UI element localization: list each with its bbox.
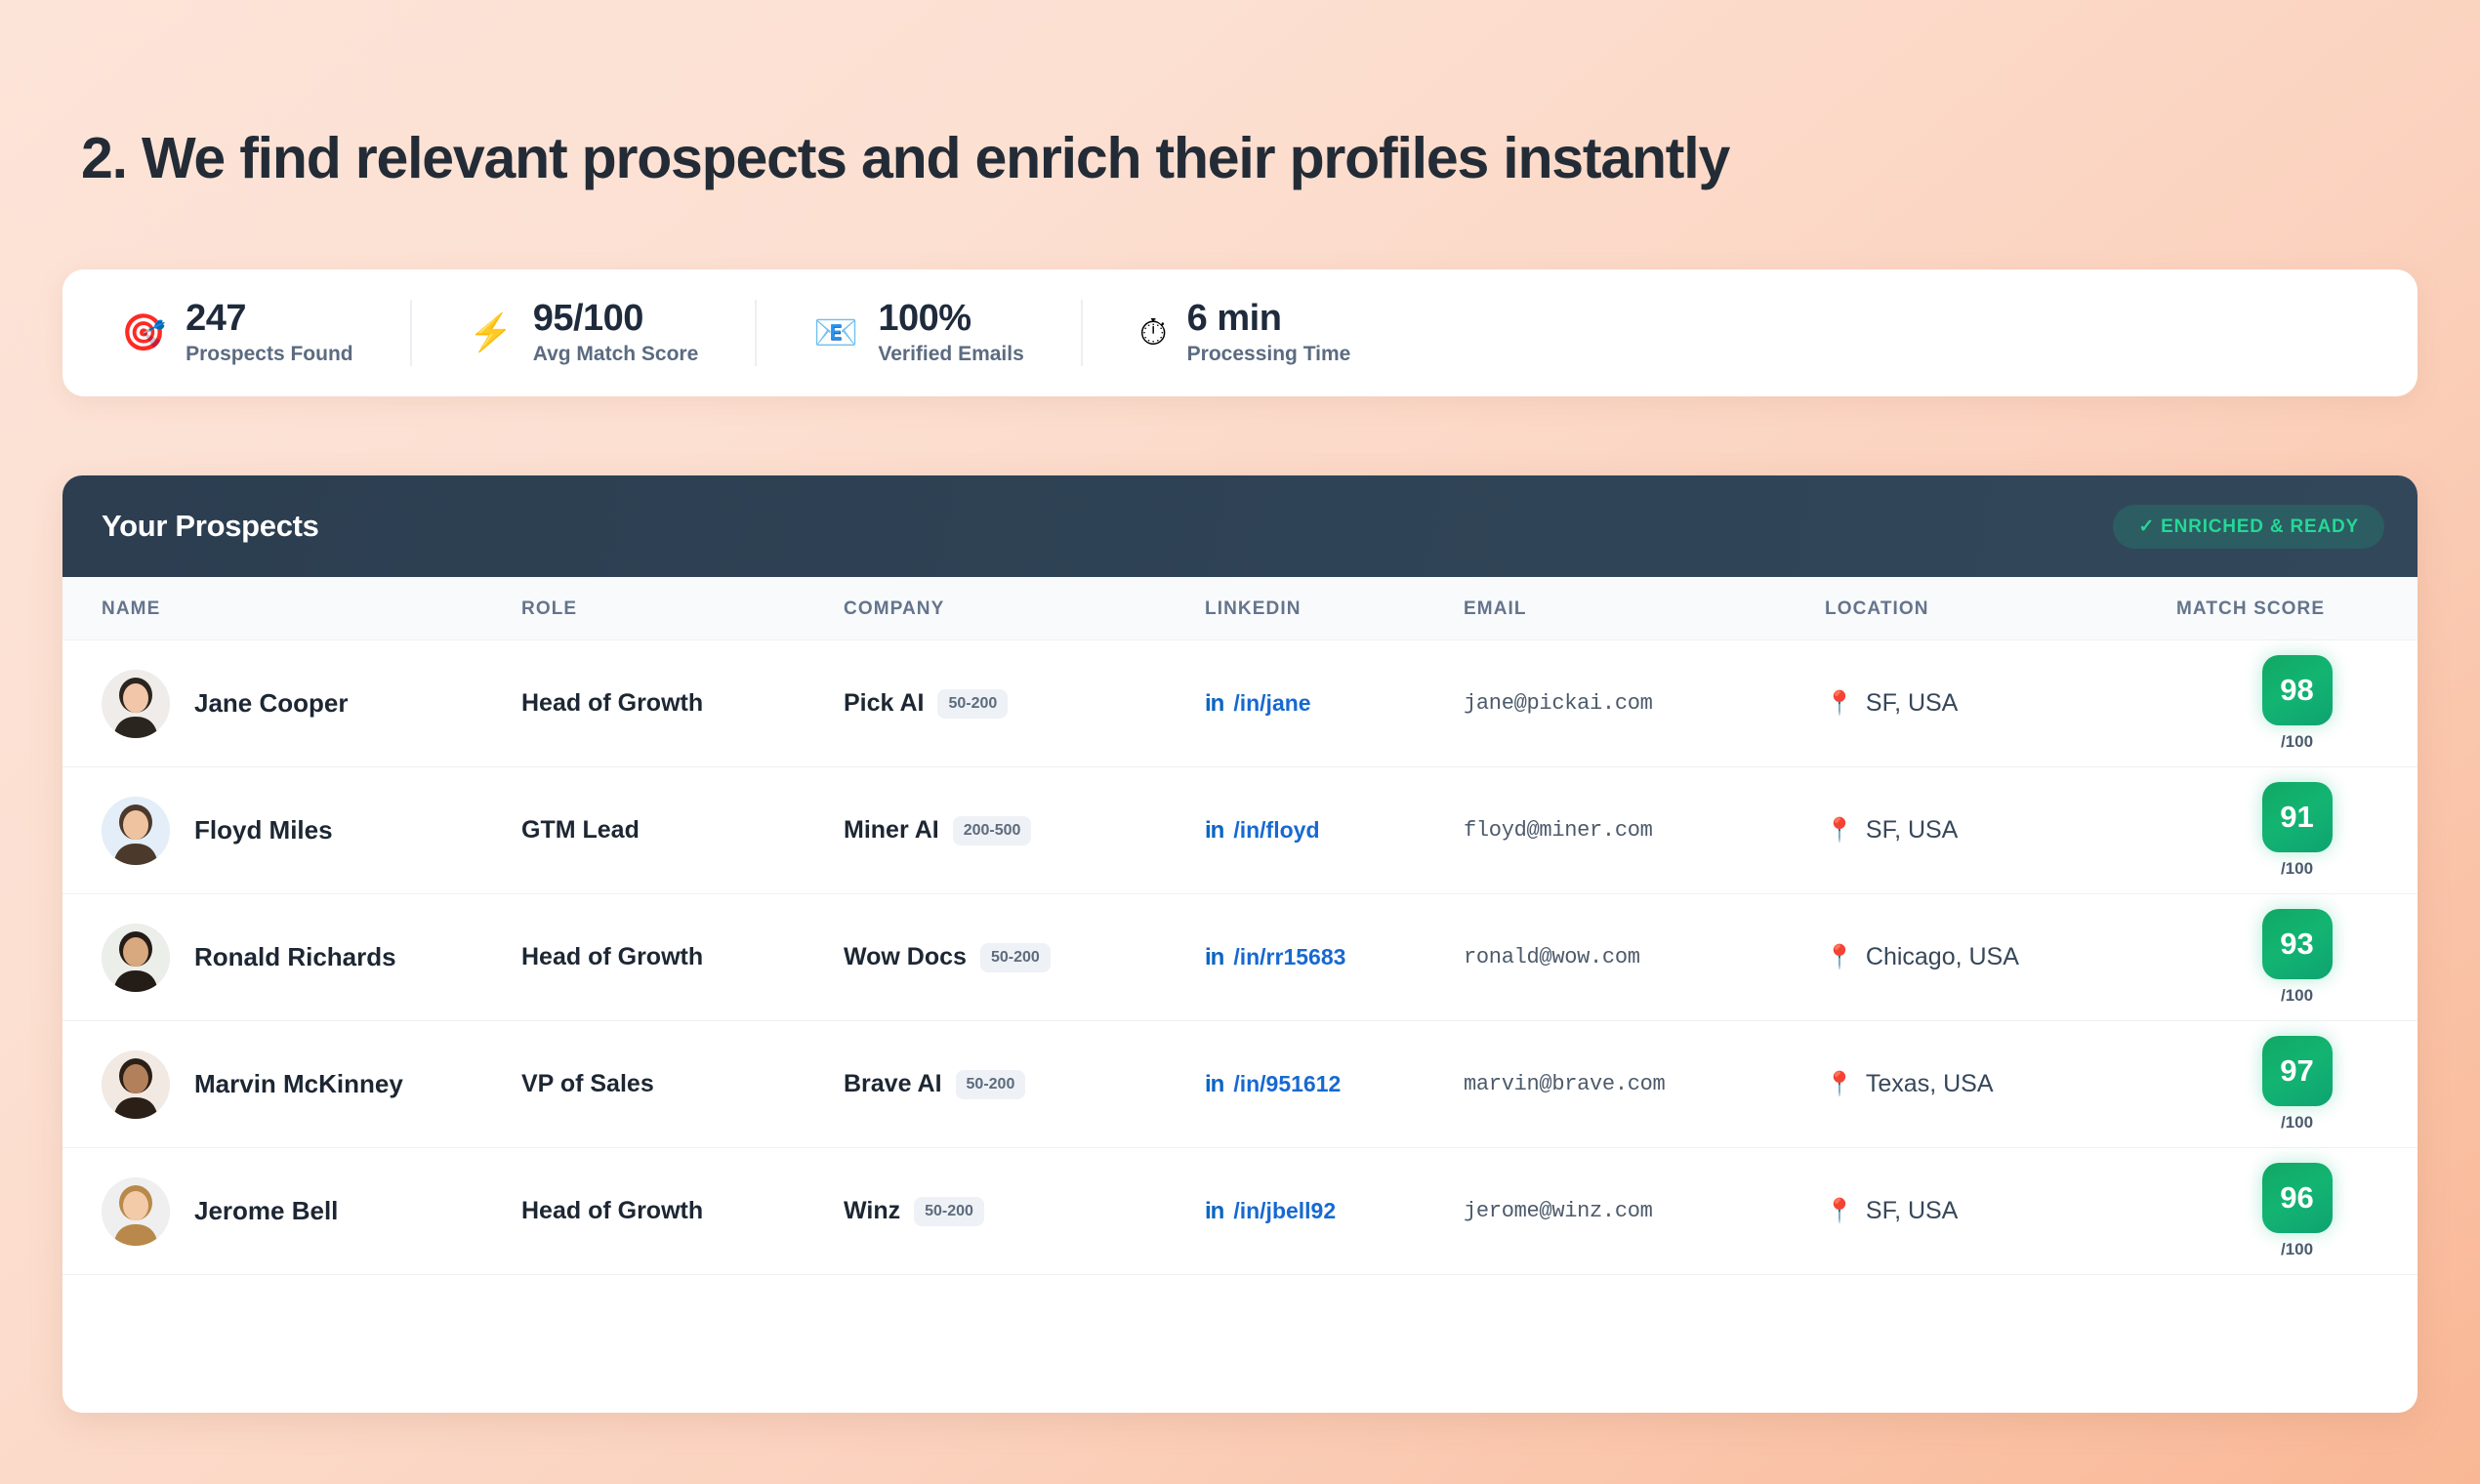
prospect-role: Head of Growth <box>521 943 703 970</box>
prospect-email[interactable]: marvin@brave.com <box>1464 1072 1665 1096</box>
linkedin-link[interactable]: in /in/jbell92 <box>1205 1198 1464 1224</box>
prospect-name: Jerome Bell <box>194 1196 338 1226</box>
stat-value: 100% <box>878 300 1023 339</box>
prospect-role: Head of Growth <box>521 1197 703 1224</box>
stat-processing-time: ⏱ 6 min Processing Time <box>1081 300 1408 367</box>
column-header-company[interactable]: COMPANY <box>844 577 1205 640</box>
avatar <box>102 1051 170 1119</box>
linkedin-icon: in <box>1205 946 1223 969</box>
linkedin-icon: in <box>1205 819 1223 843</box>
avatar <box>102 670 170 738</box>
prospect-company: Brave AI <box>844 1070 942 1098</box>
table-row[interactable]: Marvin McKinney VP of Sales Brave AI 50-… <box>62 1021 2418 1148</box>
prospect-email[interactable]: floyd@miner.com <box>1464 818 1653 843</box>
avatar <box>102 924 170 992</box>
match-score: 96 /100 <box>2176 1163 2418 1259</box>
table-row[interactable]: Floyd Miles GTM Lead Miner AI 200-500 in… <box>62 767 2418 894</box>
match-score: 93 /100 <box>2176 909 2418 1006</box>
match-score: 97 /100 <box>2176 1036 2418 1133</box>
prospects-table: NAME ROLE COMPANY LINKEDIN EMAIL LOCATIO… <box>62 577 2418 1275</box>
status-badge: ✓ ENRICHED & READY <box>2113 505 2384 549</box>
stopwatch-icon: ⏱ <box>1139 314 1168 350</box>
match-score-denominator: /100 <box>2281 732 2313 752</box>
column-header-linkedin[interactable]: LINKEDIN <box>1205 577 1464 640</box>
match-score-value: 96 <box>2262 1163 2333 1233</box>
company-size-badge: 50-200 <box>937 689 1008 719</box>
prospect-location: SF, USA <box>1866 689 1958 718</box>
match-score-value: 93 <box>2262 909 2333 979</box>
linkedin-icon: in <box>1205 1073 1223 1096</box>
prospect-company: Miner AI <box>844 816 939 845</box>
linkedin-handle: /in/951612 <box>1233 1071 1341 1097</box>
stat-value: 95/100 <box>533 300 699 339</box>
target-icon: 🎯 <box>121 314 166 350</box>
stat-prospects-found: 🎯 247 Prospects Found <box>121 300 410 367</box>
panel-title: Your Prospects <box>102 509 319 544</box>
column-header-email[interactable]: EMAIL <box>1464 577 1825 640</box>
linkedin-handle: /in/jbell92 <box>1233 1198 1336 1224</box>
stat-label: Processing Time <box>1187 343 1351 366</box>
match-score-value: 91 <box>2262 782 2333 852</box>
table-header-row: NAME ROLE COMPANY LINKEDIN EMAIL LOCATIO… <box>62 577 2418 640</box>
location-pin-icon: 📍 <box>1825 819 1854 843</box>
location-pin-icon: 📍 <box>1825 946 1854 969</box>
company-size-badge: 50-200 <box>956 1070 1026 1099</box>
match-score-denominator: /100 <box>2281 859 2313 879</box>
linkedin-icon: in <box>1205 1200 1223 1223</box>
linkedin-handle: /in/floyd <box>1233 817 1319 844</box>
match-score-value: 97 <box>2262 1036 2333 1106</box>
company-size-badge: 50-200 <box>980 943 1051 972</box>
match-score: 98 /100 <box>2176 655 2418 752</box>
stat-value: 247 <box>186 300 353 339</box>
linkedin-handle: /in/jane <box>1233 690 1310 717</box>
prospects-panel: Your Prospects ✓ ENRICHED & READY NAME R… <box>62 475 2418 1413</box>
location-pin-icon: 📍 <box>1825 1073 1854 1096</box>
column-header-location[interactable]: LOCATION <box>1825 577 2176 640</box>
prospect-company: Pick AI <box>844 689 924 718</box>
company-size-badge: 50-200 <box>914 1197 984 1226</box>
company-size-badge: 200-500 <box>953 816 1032 845</box>
avatar <box>102 797 170 865</box>
table-row[interactable]: Ronald Richards Head of Growth Wow Docs … <box>62 894 2418 1021</box>
column-header-role[interactable]: ROLE <box>521 577 844 640</box>
match-score-denominator: /100 <box>2281 1113 2313 1133</box>
stat-verified-emails: 📧 100% Verified Emails <box>755 300 1081 367</box>
prospect-location: SF, USA <box>1866 1197 1958 1225</box>
lightning-bolt-icon: ⚡ <box>469 314 514 350</box>
prospect-location: Texas, USA <box>1866 1070 1994 1098</box>
prospect-role: Head of Growth <box>521 689 703 717</box>
match-score-denominator: /100 <box>2281 986 2313 1006</box>
prospect-role: VP of Sales <box>521 1070 654 1097</box>
stat-label: Verified Emails <box>878 343 1023 366</box>
prospect-email[interactable]: jerome@winz.com <box>1464 1199 1653 1223</box>
prospect-name: Jane Cooper <box>194 688 349 719</box>
location-pin-icon: 📍 <box>1825 1200 1854 1223</box>
prospect-name: Marvin McKinney <box>194 1069 403 1099</box>
prospect-email[interactable]: ronald@wow.com <box>1464 945 1640 969</box>
stat-value: 6 min <box>1187 300 1351 339</box>
table-body: Jane Cooper Head of Growth Pick AI 50-20… <box>62 640 2418 1275</box>
linkedin-link[interactable]: in /in/jane <box>1205 690 1464 717</box>
prospect-email[interactable]: jane@pickai.com <box>1464 691 1653 716</box>
prospect-name: Floyd Miles <box>194 815 333 845</box>
match-score-denominator: /100 <box>2281 1240 2313 1259</box>
linkedin-handle: /in/rr15683 <box>1233 944 1345 970</box>
linkedin-link[interactable]: in /in/951612 <box>1205 1071 1464 1097</box>
panel-header: Your Prospects ✓ ENRICHED & READY <box>62 475 2418 577</box>
table-row[interactable]: Jane Cooper Head of Growth Pick AI 50-20… <box>62 640 2418 767</box>
linkedin-link[interactable]: in /in/floyd <box>1205 817 1464 844</box>
stat-label: Prospects Found <box>186 343 353 366</box>
column-header-match-score[interactable]: MATCH SCORE <box>2176 577 2418 640</box>
stats-summary-bar: 🎯 247 Prospects Found ⚡ 95/100 Avg Match… <box>62 269 2418 396</box>
match-score: 91 /100 <box>2176 782 2418 879</box>
prospect-location: SF, USA <box>1866 816 1958 845</box>
table-row[interactable]: Jerome Bell Head of Growth Winz 50-200 i… <box>62 1148 2418 1275</box>
stat-label: Avg Match Score <box>533 343 699 366</box>
linkedin-link[interactable]: in /in/rr15683 <box>1205 944 1464 970</box>
prospect-company: Wow Docs <box>844 943 967 971</box>
page-title: 2. We find relevant prospects and enrich… <box>81 125 1729 191</box>
avatar <box>102 1177 170 1246</box>
location-pin-icon: 📍 <box>1825 692 1854 716</box>
stat-avg-match-score: ⚡ 95/100 Avg Match Score <box>410 300 756 367</box>
linkedin-icon: in <box>1205 692 1223 716</box>
prospect-location: Chicago, USA <box>1866 943 2019 971</box>
column-header-name[interactable]: NAME <box>62 577 521 640</box>
prospect-name: Ronald Richards <box>194 942 396 972</box>
prospect-role: GTM Lead <box>521 816 640 844</box>
email-icon: 📧 <box>813 314 858 350</box>
prospect-company: Winz <box>844 1197 900 1225</box>
match-score-value: 98 <box>2262 655 2333 725</box>
